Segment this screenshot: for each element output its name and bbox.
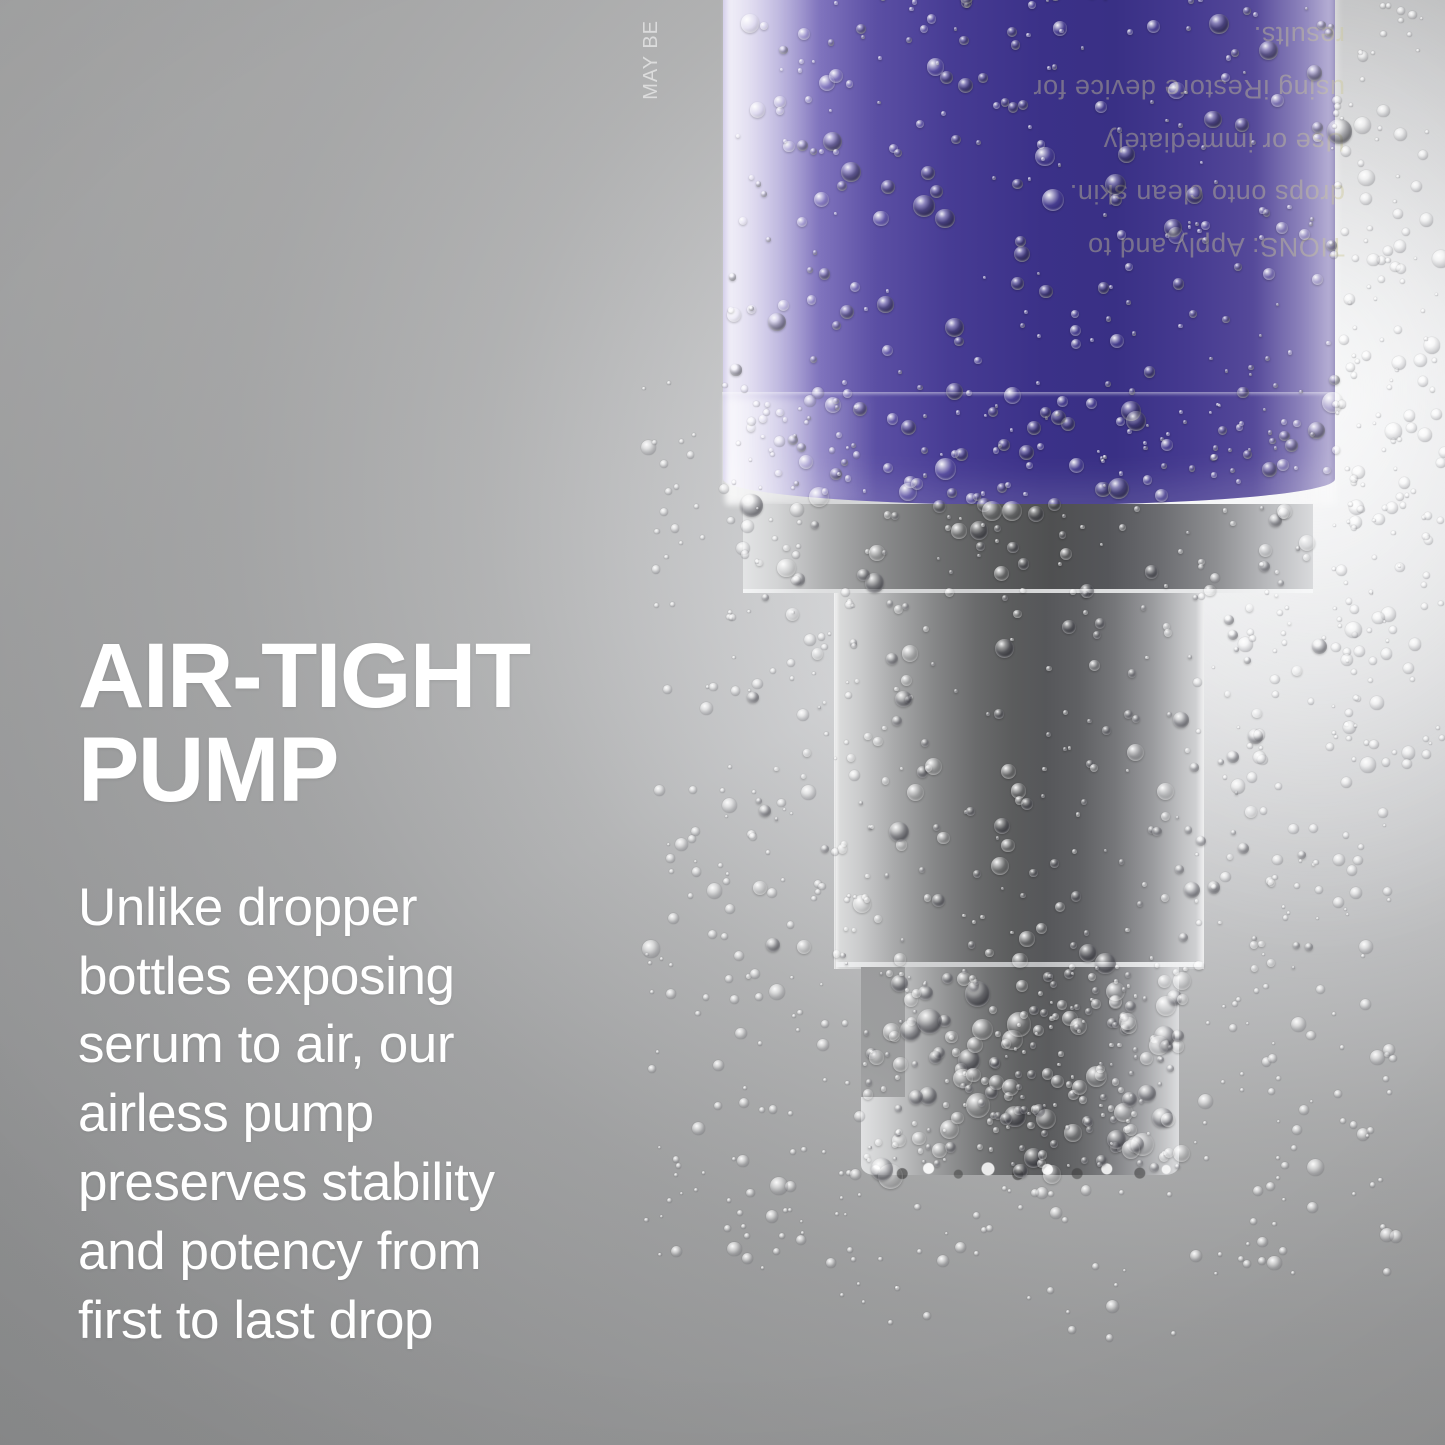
bottle-label-side-text: MAY BE — [640, 20, 663, 100]
bottle-base-ring-highlight — [726, 398, 876, 502]
marketing-copy: AIR-TIGHT PUMP Unlike dropper bottles ex… — [78, 630, 638, 1356]
headline-line-1: AIR-TIGHT — [78, 630, 638, 724]
pump-nozzle-water-bead — [856, 1158, 1186, 1184]
pump-collar — [743, 504, 1313, 592]
pump-shaft-left-highlight — [834, 593, 840, 969]
headline-line-2: PUMP — [78, 724, 638, 818]
body-copy: Unlike dropper bottles exposing serum to… — [78, 874, 548, 1356]
pump-nozzle-tip — [861, 967, 1179, 1175]
pump-shaft-right-highlight — [1196, 593, 1204, 969]
pump-nozzle-notch — [861, 967, 905, 1097]
pump-shaft — [836, 593, 1204, 969]
page-title: AIR-TIGHT PUMP — [78, 630, 638, 818]
product-image-canvas: TIONS: Apply and to drops onto clean ski… — [0, 0, 1445, 1445]
